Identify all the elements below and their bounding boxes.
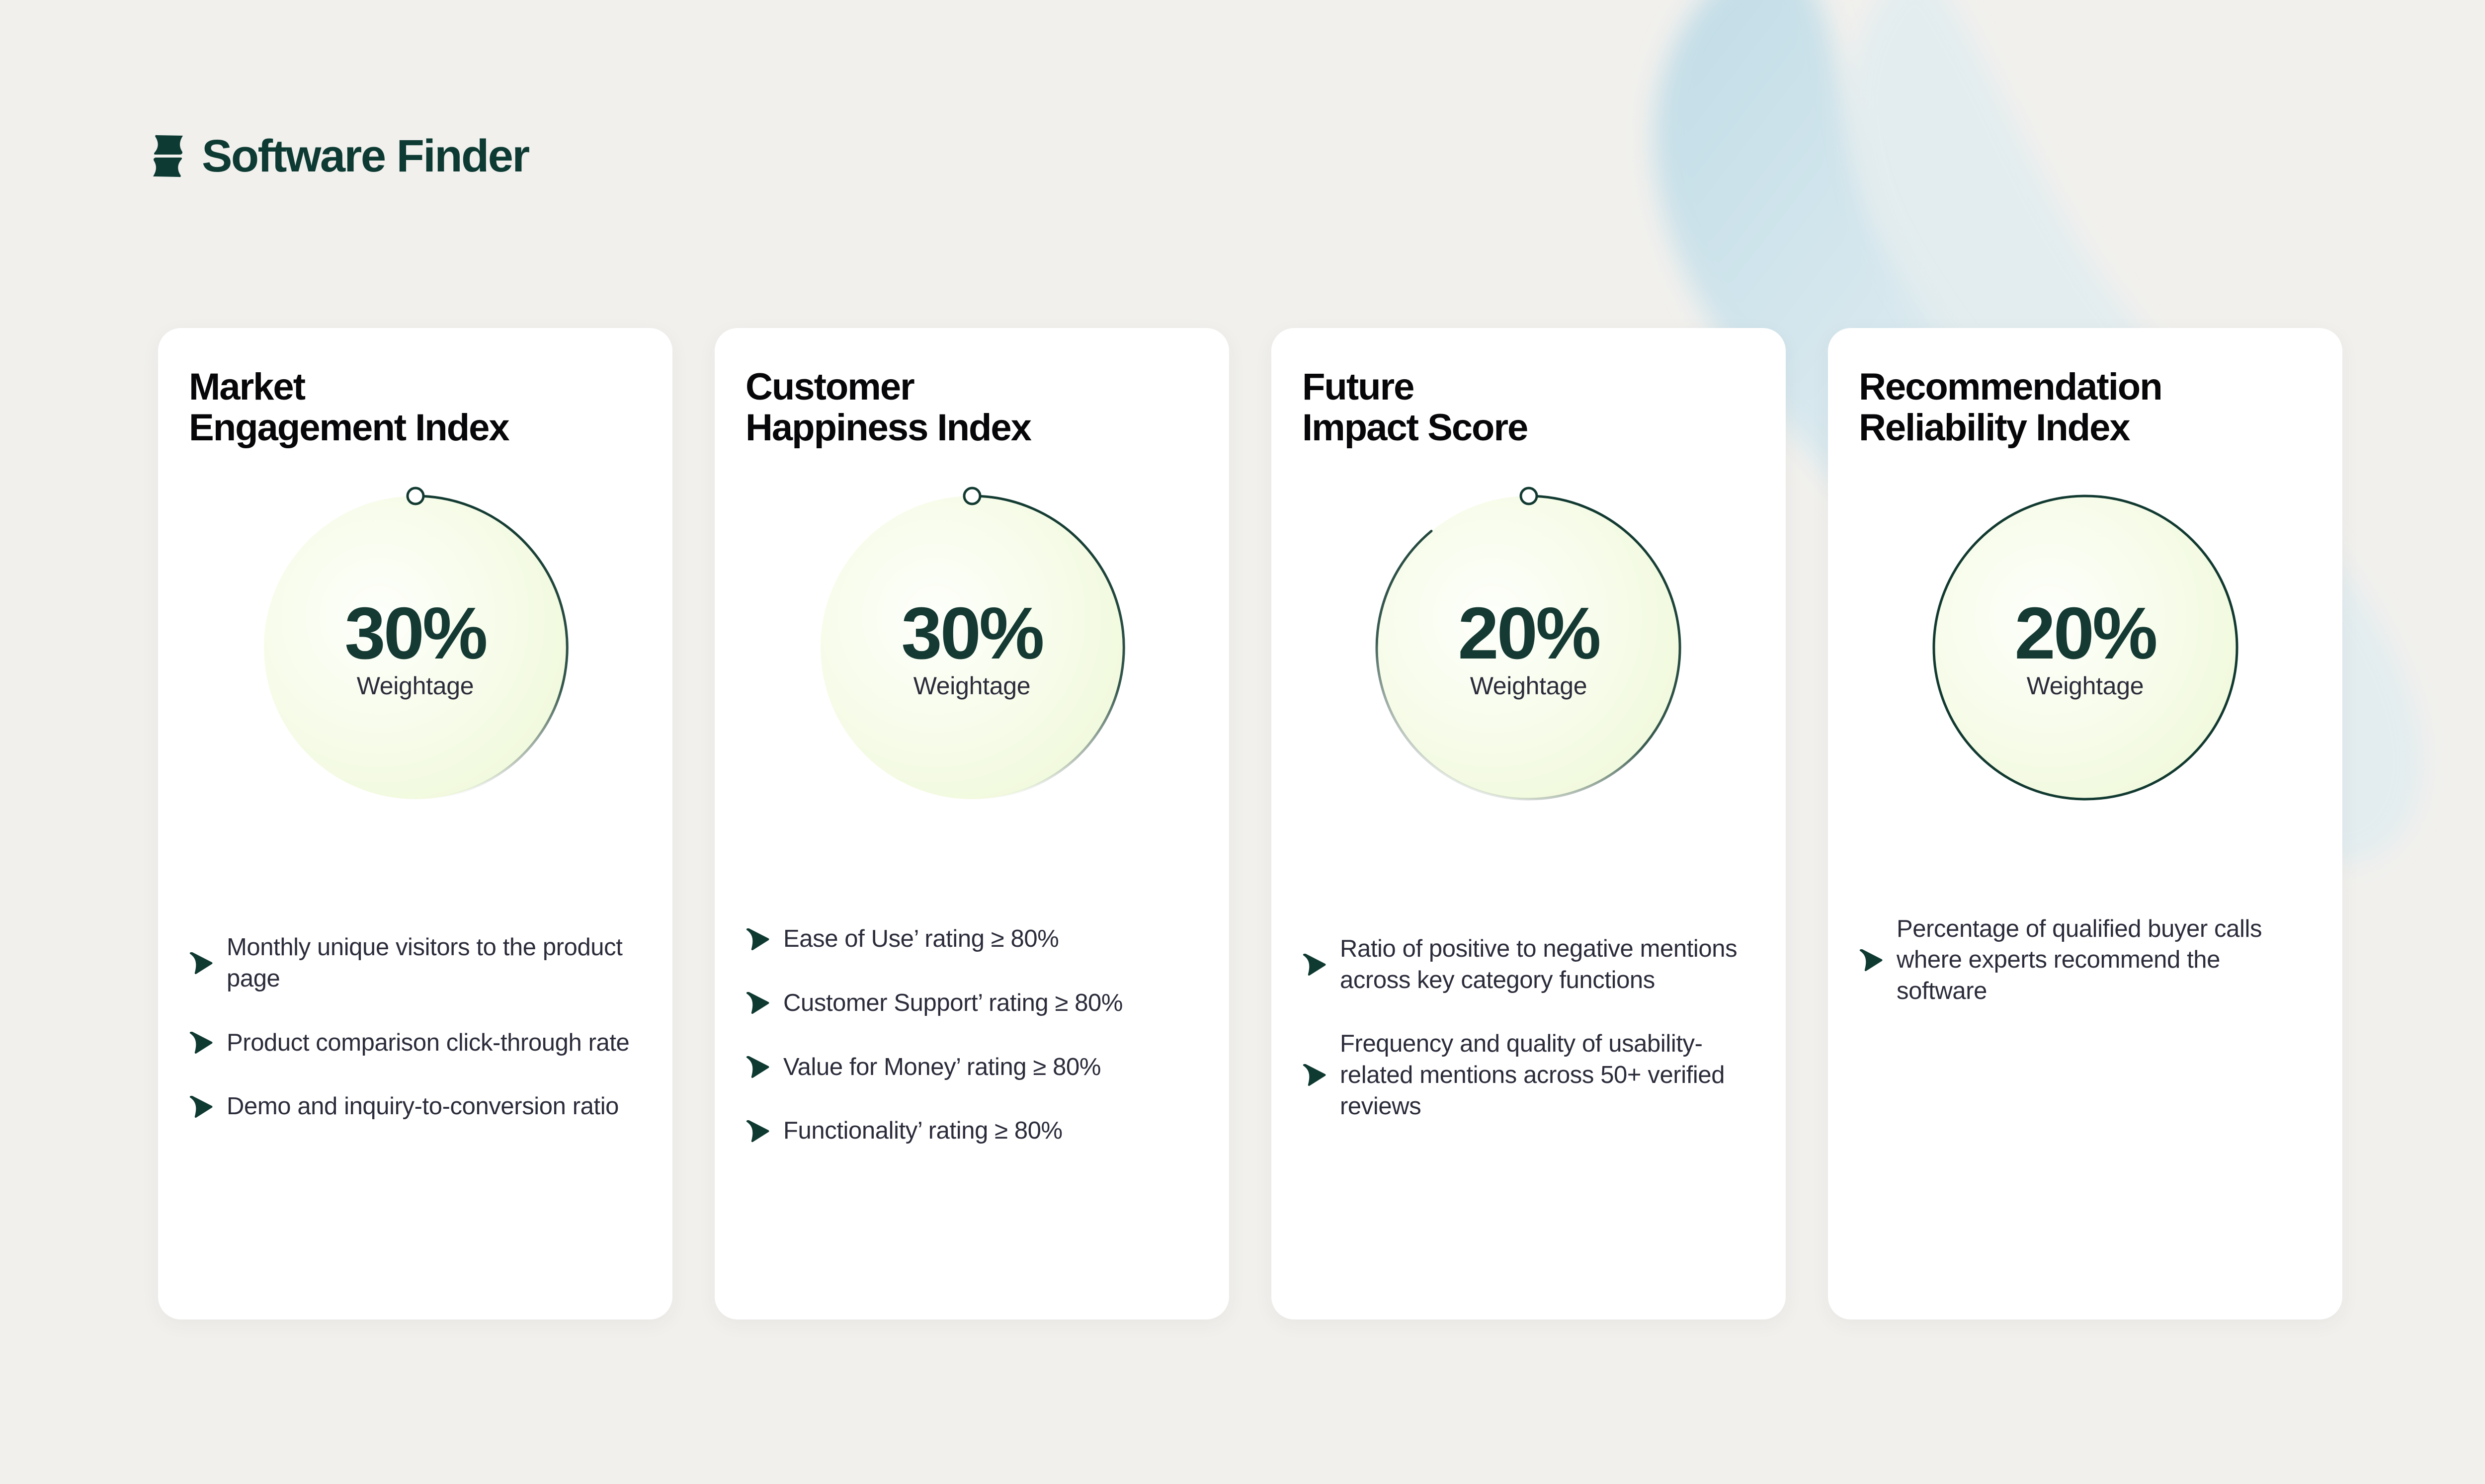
brand-name: Software Finder <box>202 133 529 179</box>
list-item-text: Functionality’ rating ≥ 80% <box>783 1115 1063 1147</box>
gauge-percentage: 30% <box>344 597 486 670</box>
criteria-list: Percentage of qualified buyer calls wher… <box>1859 913 2312 1216</box>
gauge-container: 30% Weightage <box>189 486 642 809</box>
gauge-label: Weightage <box>1470 673 1587 698</box>
list-item: Demo and inquiry-to-conversion ratio <box>189 1091 642 1122</box>
card-title: Customer Happiness Index <box>745 367 1198 448</box>
weightage-gauge: 30% Weightage <box>811 486 1134 809</box>
list-item-text: Customer Support’ rating ≥ 80% <box>783 988 1123 1019</box>
brand-logo[interactable]: Software Finder <box>149 133 529 179</box>
gauge-container: 20% Weightage <box>1859 486 2312 809</box>
gauge-container: 30% Weightage <box>745 486 1198 809</box>
weightage-gauge: 20% Weightage <box>1924 486 2247 809</box>
list-item-text: Ease of Use’ rating ≥ 80% <box>783 923 1059 955</box>
list-item-text: Value for Money’ rating ≥ 80% <box>783 1052 1101 1083</box>
weightage-gauge: 20% Weightage <box>1367 486 1690 809</box>
arrow-bullet-icon <box>745 1120 769 1142</box>
gauge-label: Weightage <box>913 673 1030 698</box>
arrow-bullet-icon <box>189 1032 213 1054</box>
card-recommendation-reliability-index[interactable]: Recommendation Reliability Index <box>1828 328 2342 1319</box>
card-future-impact-score[interactable]: Future Impact Score <box>1271 328 1786 1319</box>
criteria-list: Ratio of positive to negative mentions a… <box>1302 933 1755 1196</box>
list-item: Functionality’ rating ≥ 80% <box>745 1115 1198 1147</box>
metric-cards-container: Market Engagement Index <box>158 328 2342 1319</box>
arrow-bullet-icon <box>1859 949 1883 971</box>
gauge-percentage: 30% <box>901 597 1042 670</box>
card-customer-happiness-index[interactable]: Customer Happiness Index <box>715 328 1229 1319</box>
list-item-text: Product comparison click-through rate <box>227 1027 629 1059</box>
gauge-label: Weightage <box>2027 673 2144 698</box>
gauge-percentage: 20% <box>2014 597 2155 670</box>
arrow-bullet-icon <box>1302 954 1326 976</box>
double-arrow-logo-mark-icon <box>149 134 187 178</box>
page-root: Software Finder Market Engagement Index <box>0 0 2485 1484</box>
list-item: Monthly unique visitors to the product p… <box>189 932 642 994</box>
list-item-text: Percentage of qualified buyer calls wher… <box>1897 913 2312 1007</box>
gauge-container: 20% Weightage <box>1302 486 1755 809</box>
arrow-bullet-icon <box>745 1056 769 1078</box>
list-item: Product comparison click-through rate <box>189 1027 642 1059</box>
arrow-bullet-icon <box>189 1096 213 1118</box>
list-item: Customer Support’ rating ≥ 80% <box>745 988 1198 1019</box>
list-item: Ratio of positive to negative mentions a… <box>1302 933 1755 995</box>
arrow-bullet-icon <box>745 928 769 950</box>
criteria-list: Monthly unique visitors to the product p… <box>189 932 642 1197</box>
list-item-text: Frequency and quality of usability-relat… <box>1340 1028 1755 1122</box>
gauge-percentage: 20% <box>1458 597 1599 670</box>
card-title: Recommendation Reliability Index <box>1859 367 2312 448</box>
list-item-text: Monthly unique visitors to the product p… <box>227 932 642 994</box>
card-title: Future Impact Score <box>1302 367 1755 448</box>
card-title: Market Engagement Index <box>189 367 642 448</box>
list-item: Value for Money’ rating ≥ 80% <box>745 1052 1198 1083</box>
card-market-engagement-index[interactable]: Market Engagement Index <box>158 328 672 1319</box>
list-item-text: Ratio of positive to negative mentions a… <box>1340 933 1755 995</box>
arrow-bullet-icon <box>1302 1064 1326 1086</box>
gauge-label: Weightage <box>357 673 474 698</box>
list-item-text: Demo and inquiry-to-conversion ratio <box>227 1091 619 1122</box>
list-item: Ease of Use’ rating ≥ 80% <box>745 923 1198 955</box>
arrow-bullet-icon <box>745 992 769 1014</box>
arrow-bullet-icon <box>189 952 213 974</box>
list-item: Percentage of qualified buyer calls wher… <box>1859 913 2312 1007</box>
criteria-list: Ease of Use’ rating ≥ 80% Customer Suppo… <box>745 923 1198 1205</box>
weightage-gauge: 30% Weightage <box>254 486 577 809</box>
list-item: Frequency and quality of usability-relat… <box>1302 1028 1755 1122</box>
